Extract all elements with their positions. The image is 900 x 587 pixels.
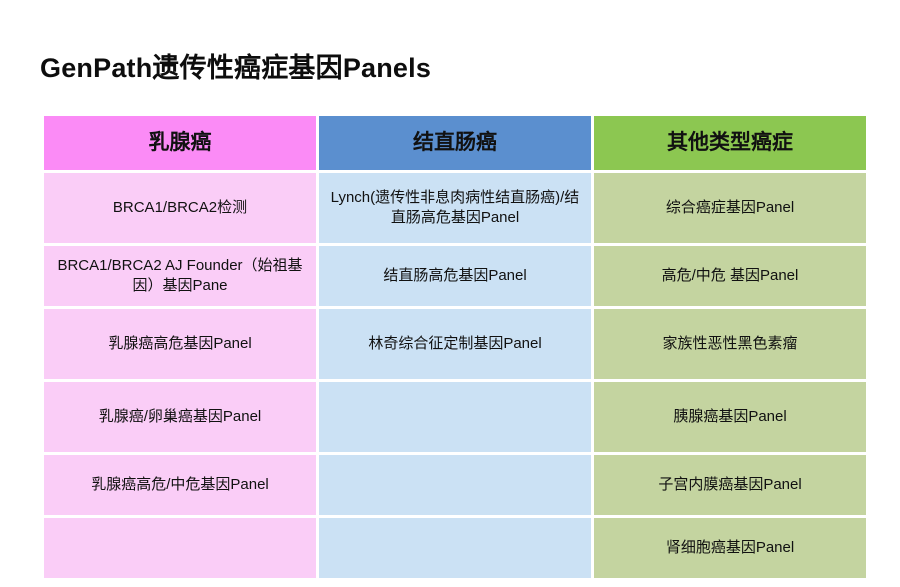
cell-breast-1: BRCA1/BRCA2检测 <box>44 173 316 243</box>
cell-other-5: 子宫内膜癌基因Panel <box>594 455 866 515</box>
cell-colorectal-2: 结直肠高危基因Panel <box>319 246 591 306</box>
cell-breast-4: 乳腺癌/卵巢癌基因Panel <box>44 382 316 452</box>
cell-colorectal-3: 林奇综合征定制基因Panel <box>319 309 591 379</box>
cell-other-1: 综合癌症基因Panel <box>594 173 866 243</box>
page-title: GenPath遗传性癌症基因Panels <box>40 46 431 85</box>
table-row: 乳腺癌/卵巢癌基因Panel 胰腺癌基因Panel <box>44 382 866 452</box>
cell-other-3: 家族性恶性黑色素瘤 <box>594 309 866 379</box>
cancer-panel-table: 乳腺癌 结直肠癌 其他类型癌症 BRCA1/BRCA2检测 Lynch(遗传性非… <box>41 113 869 581</box>
table-row: 乳腺癌高危基因Panel 林奇综合征定制基因Panel 家族性恶性黑色素瘤 <box>44 309 866 379</box>
table-row: 乳腺癌高危/中危基因Panel 子宫内膜癌基因Panel <box>44 455 866 515</box>
cell-other-2: 高危/中危 基因Panel <box>594 246 866 306</box>
cell-colorectal-5 <box>319 455 591 515</box>
slide-root: GenPath遗传性癌症基因Panels 乳腺癌 结直肠癌 其他类型癌症 BRC… <box>0 0 900 587</box>
table-row: BRCA1/BRCA2检测 Lynch(遗传性非息肉病性结直肠癌)/结直肠高危基… <box>44 173 866 243</box>
column-header-breast: 乳腺癌 <box>44 116 316 170</box>
cell-breast-3: 乳腺癌高危基因Panel <box>44 309 316 379</box>
column-header-colorectal: 结直肠癌 <box>319 116 591 170</box>
cell-other-4: 胰腺癌基因Panel <box>594 382 866 452</box>
cell-other-6: 肾细胞癌基因Panel <box>594 518 866 578</box>
cell-breast-2: BRCA1/BRCA2 AJ Founder（始祖基因）基因Pane <box>44 246 316 306</box>
table-row: 肾细胞癌基因Panel <box>44 518 866 578</box>
cell-breast-5: 乳腺癌高危/中危基因Panel <box>44 455 316 515</box>
cell-colorectal-1: Lynch(遗传性非息肉病性结直肠癌)/结直肠高危基因Panel <box>319 173 591 243</box>
cell-breast-6 <box>44 518 316 578</box>
column-header-other: 其他类型癌症 <box>594 116 866 170</box>
cell-colorectal-6 <box>319 518 591 578</box>
table-row: BRCA1/BRCA2 AJ Founder（始祖基因）基因Pane 结直肠高危… <box>44 246 866 306</box>
table-header-row: 乳腺癌 结直肠癌 其他类型癌症 <box>44 116 866 170</box>
cell-colorectal-4 <box>319 382 591 452</box>
